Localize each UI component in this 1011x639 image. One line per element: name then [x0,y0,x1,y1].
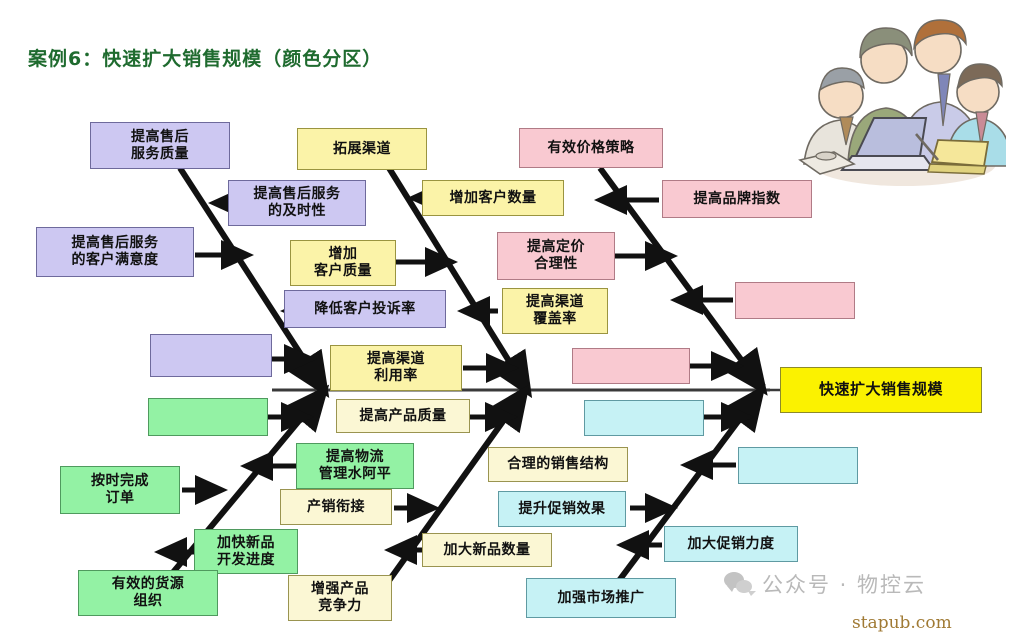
cause-box-pink-empty-lower[interactable] [572,348,690,384]
cause-box-channel-coverage-rate[interactable]: 提高渠道 覆盖率 [502,288,608,334]
cause-box-logistics-management-level[interactable]: 提高物流 管理水阿平 [296,443,414,489]
cause-box-accelerate-new-product-dev[interactable]: 加快新品 开发进度 [194,529,298,574]
cause-box-on-time-order-completion[interactable]: 按时完成 订单 [60,466,180,514]
goal-box-expand-sales-scale[interactable]: 快速扩大销售规模 [780,367,982,413]
watermark-account: 公众号 · 物控云 [762,569,926,599]
cause-box-boost-promotion-effect[interactable]: 提升促销效果 [498,491,626,527]
cause-box-effective-supply-organization[interactable]: 有效的货源 组织 [78,570,218,616]
cause-box-effective-pricing-strategy[interactable]: 有效价格策略 [519,128,663,168]
cause-box-increase-customer-quality[interactable]: 增加 客户质量 [290,240,396,286]
cause-box-after-sales-satisfaction[interactable]: 提高售后服务 的客户满意度 [36,227,194,277]
cause-box-production-sales-link[interactable]: 产销衔接 [280,489,392,525]
cause-box-strengthen-product-competitive[interactable]: 增强产品 竞争力 [288,575,392,621]
cause-box-green-empty[interactable] [148,398,268,436]
wechat-icon [724,572,754,596]
cause-box-increase-customer-count[interactable]: 增加客户数量 [422,180,564,216]
connector-group-yellow [393,198,513,368]
cause-box-increase-new-product-count[interactable]: 加大新品数量 [422,533,552,567]
watermark: 公众号 · 物控云 [724,569,926,599]
cause-box-channel-utilization-rate[interactable]: 提高渠道 利用率 [330,345,462,391]
cause-box-strengthen-market-promotion[interactable]: 加强市场推广 [526,578,676,618]
fishbone-diagram-canvas: 案例6：快速扩大销售规模（颜色分区） [0,0,1011,639]
cause-box-cyan-empty-upper[interactable] [584,400,704,436]
cause-box-increase-promotion-intensity[interactable]: 加大促销力度 [664,526,798,562]
cause-box-after-sales-timeliness[interactable]: 提高售后服务 的及时性 [228,180,366,226]
cause-box-improve-product-quality[interactable]: 提高产品质量 [336,399,470,433]
cause-box-expand-channels[interactable]: 拓展渠道 [297,128,427,170]
business-team-meeting-clipart [796,14,1006,194]
cause-box-improve-brand-index[interactable]: 提高品牌指数 [662,180,812,218]
watermark-url: stapub.com [852,613,952,633]
cause-box-reduce-complaint-rate[interactable]: 降低客户投诉率 [284,290,446,328]
cause-box-cyan-empty-lower[interactable] [738,447,858,484]
cause-box-purple-empty[interactable] [150,334,272,377]
cause-box-pricing-rationality[interactable]: 提高定价 合理性 [497,232,615,280]
page-title: 案例6：快速扩大销售规模（颜色分区） [28,44,382,71]
cause-box-pink-empty-upper[interactable] [735,282,855,319]
cause-box-rational-sales-structure[interactable]: 合理的销售结构 [488,447,628,482]
cause-box-improve-after-sales-quality[interactable]: 提高售后 服务质量 [90,122,230,169]
connector-group-pink [600,200,738,366]
